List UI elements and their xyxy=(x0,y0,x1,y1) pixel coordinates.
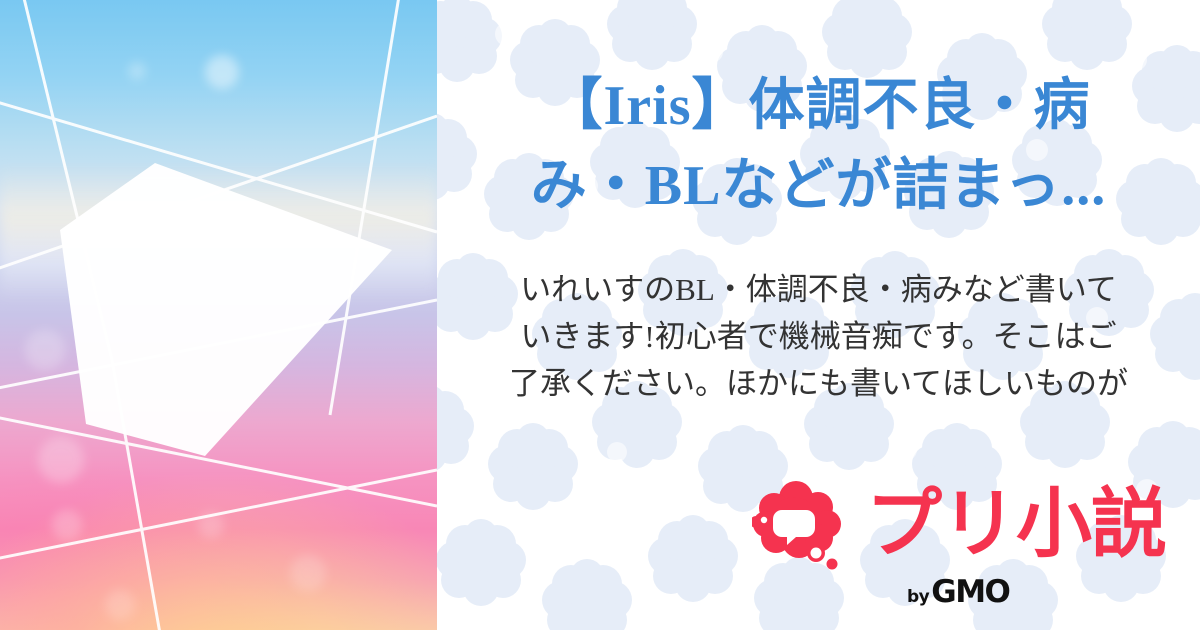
page-title: 【Iris】体調不良・病 み・BLなどが詰まっ... xyxy=(437,66,1200,226)
by-gmo-byline: by GMO xyxy=(907,574,1009,610)
logo-row: プリ小説 xyxy=(752,478,1166,570)
thought-bubble-icon xyxy=(752,478,860,570)
byline-prefix: by xyxy=(907,587,929,607)
cover-pentagon xyxy=(60,163,392,456)
cover-geometry xyxy=(0,0,437,630)
description-text: いれいすのBL・体調不良・病みなど書いて いきます!初心者で機械音痴です。そこは… xyxy=(437,266,1200,407)
novel-cover-image[interactable] xyxy=(0,0,437,630)
logo-wordmark: プリ小説 xyxy=(866,486,1166,562)
puri-shosetsu-logo[interactable]: プリ小説 by GMO xyxy=(752,478,1182,603)
share-card: 【Iris】体調不良・病 み・BLなどが詰まっ... いれいすのBL・体調不良・… xyxy=(0,0,1200,630)
byline-brand: GMO xyxy=(931,574,1009,610)
